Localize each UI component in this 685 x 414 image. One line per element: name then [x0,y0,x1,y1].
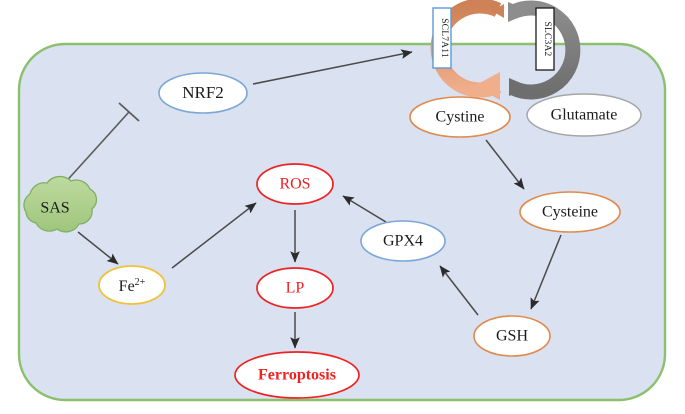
node-ros[interactable]: ROS [257,164,333,204]
diagram-canvas: SCL7A11 SLC3A2 NRF [0,0,685,414]
node-gsh[interactable]: GSH [474,316,550,356]
node-nrf2[interactable]: NRF2 [159,73,247,113]
pathway-diagram: SCL7A11 SLC3A2 NRF [0,0,685,414]
transporter-slc3a2-label: SLC3A2 [542,22,552,57]
node-glutamate[interactable]: Glutamate [527,94,641,136]
node-cysteine[interactable]: Cysteine [520,192,620,232]
node-ferroptosis-label: Ferroptosis [258,367,336,384]
node-lp[interactable]: LP [257,268,333,308]
node-gpx4[interactable]: GPX4 [361,221,445,261]
transporter-slc7a11[interactable]: SCL7A11 [433,8,451,68]
node-cystine[interactable]: Cystine [410,97,510,137]
node-cysteine-label: Cysteine [542,204,598,221]
node-fe2[interactable]: Fe2+ [99,266,165,304]
node-glutamate-label: Glutamate [551,107,618,124]
transporter-slc3a2[interactable]: SLC3A2 [536,8,554,70]
node-gpx4-label: GPX4 [383,233,423,250]
node-nrf2-label: NRF2 [182,83,224,102]
node-gsh-label: GSH [496,328,528,345]
node-lp-label: LP [286,280,305,297]
node-cystine-label: Cystine [436,109,485,126]
node-ferroptosis[interactable]: Ferroptosis [235,352,359,398]
transporter-slc7a11-label: SCL7A11 [439,18,449,58]
node-sas-label: SAS [40,200,69,217]
node-ros-label: ROS [279,176,310,193]
